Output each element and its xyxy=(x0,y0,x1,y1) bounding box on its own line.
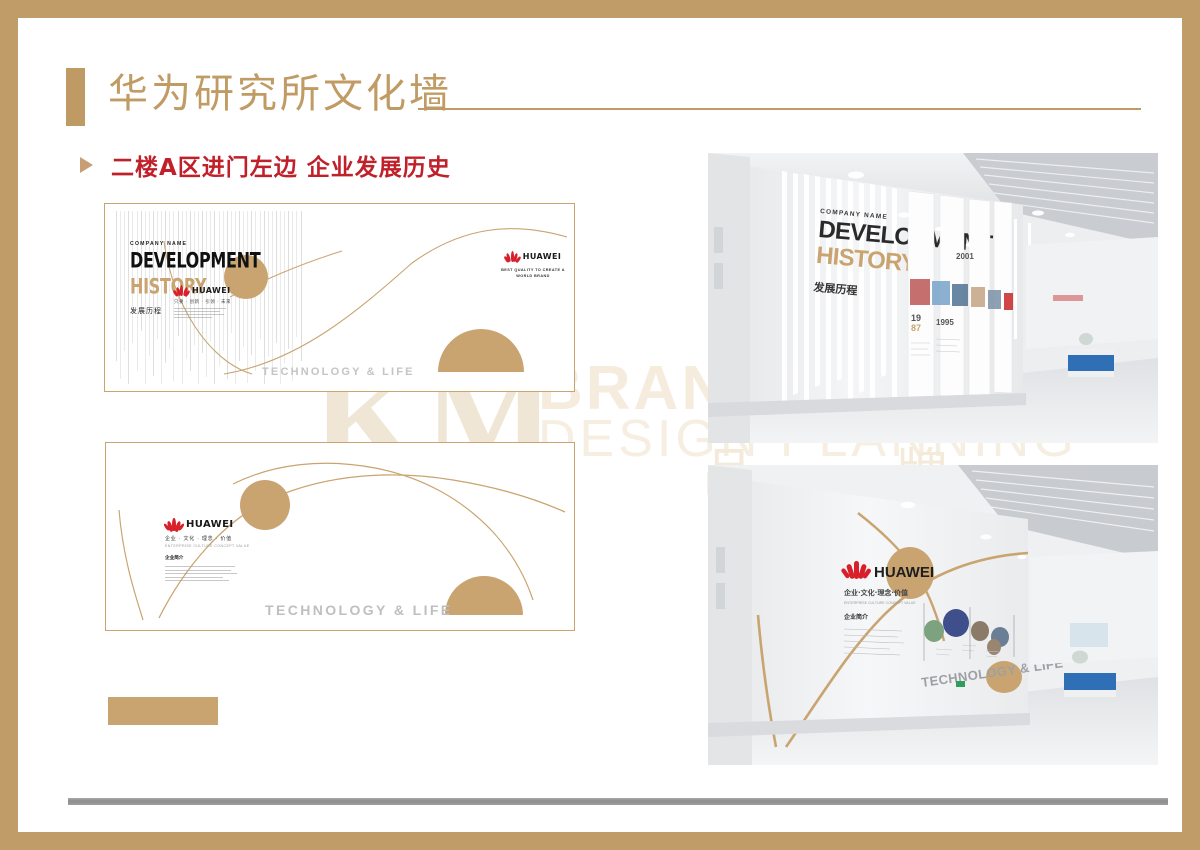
panel-1-brand-tagline: 只要 · 创新 · 引领 · 未来 xyxy=(174,299,231,305)
section-heading-label: 二楼A区进门左边 企业发展历史 xyxy=(111,148,451,182)
svg-text:87: 87 xyxy=(911,323,921,333)
installed-development-history-wall-photo[interactable]: COMPANY NAME DEVELOPMENT HISTORY 发展历程 xyxy=(708,153,1158,443)
huawei-wordmark-end: HUAWEI xyxy=(523,252,561,261)
panel-2-brand-tagline: 企业 · 文化 · 理念 · 价值 xyxy=(165,535,250,542)
panel-1-end-brand-lockup: HUAWEI BEST QUALITY TO CREATE A WORLD BR… xyxy=(496,251,567,279)
svg-text:企业简介: 企业简介 xyxy=(843,613,869,621)
huawei-flower-icon xyxy=(174,285,189,296)
huawei-logo-icon: HUAWEI xyxy=(174,285,231,296)
svg-text:2001: 2001 xyxy=(956,252,974,261)
huawei-flower-icon-2 xyxy=(165,518,183,531)
panel-1-footer-text: TECHNOLOGY & LIFE xyxy=(262,366,415,378)
huawei-wordmark: HUAWEI xyxy=(192,286,230,295)
panel-1-eyebrow: COMPANY NAME xyxy=(130,241,260,247)
photo-top-render: COMPANY NAME DEVELOPMENT HISTORY 发展历程 xyxy=(708,153,1158,443)
page-title: 华为研究所文化墙 xyxy=(108,66,452,122)
panel-2-footer-text: TECHNOLOGY & LIFE xyxy=(265,602,453,618)
panel-1-heading: DEVELOPMENT xyxy=(130,250,260,273)
panel-2-brand-tagline-en: ENTERPRISE CULTURE CONCEPT VALUE xyxy=(165,544,250,548)
panel-1-canvas: /*slats injected*/ COMPANY NAME DEVELOPM… xyxy=(112,211,567,384)
huawei-logo-icon-2: HUAWEI xyxy=(165,518,250,531)
triangle-right-icon xyxy=(80,157,93,173)
header-accent-bar xyxy=(66,68,85,126)
svg-text:1995: 1995 xyxy=(936,318,954,327)
panel-1-brand-lockup: HUAWEI 只要 · 创新 · 引领 · 未来 xyxy=(174,285,231,318)
svg-text:HUAWEI: HUAWEI xyxy=(874,564,934,581)
svg-text:企业·文化·理念·价值: 企业·文化·理念·价值 xyxy=(843,588,908,597)
panel-development-history-artwork[interactable]: /*slats injected*/ COMPANY NAME DEVELOPM… xyxy=(104,203,575,392)
svg-text:ENTERPRISE CULTURE CONCEPT VAL: ENTERPRISE CULTURE CONCEPT VALUE xyxy=(844,601,916,605)
footer-tan-placeholder-box xyxy=(108,697,218,725)
section-heading: 二楼A区进门左边 企业发展历史 xyxy=(80,148,451,182)
huawei-logo-icon-end: HUAWEI xyxy=(496,251,567,262)
photo-bottom-render: HUAWEI 企业·文化·理念·价值 ENTERPRISE CULTURE CO… xyxy=(708,465,1158,765)
panel-2-canvas: HUAWEI 企业 · 文化 · 理念 · 价值 ENTERPRISE CULT… xyxy=(113,450,567,623)
footer-divider-bar xyxy=(68,798,1168,805)
panel-culture-artwork[interactable]: HUAWEI 企业 · 文化 · 理念 · 价值 ENTERPRISE CULT… xyxy=(105,442,575,631)
svg-text:19: 19 xyxy=(911,313,921,323)
panel-2-brand-lockup: HUAWEI 企业 · 文化 · 理念 · 价值 ENTERPRISE CULT… xyxy=(165,518,250,581)
panel-2-section-label: 企业简介 xyxy=(165,555,250,561)
huawei-flower-icon-end xyxy=(505,251,520,262)
panel-1-end-tagline: BEST QUALITY TO CREATE A WORLD BRAND xyxy=(496,267,567,279)
slide-page: KM BRAND DESIGN PLANNING 肯 美 品 牌 设 计 华为研… xyxy=(18,18,1182,832)
installed-culture-wall-photo[interactable]: HUAWEI 企业·文化·理念·价值 ENTERPRISE CULTURE CO… xyxy=(708,465,1158,765)
header-rule xyxy=(418,108,1141,110)
huawei-wordmark-2: HUAWEI xyxy=(186,519,233,530)
